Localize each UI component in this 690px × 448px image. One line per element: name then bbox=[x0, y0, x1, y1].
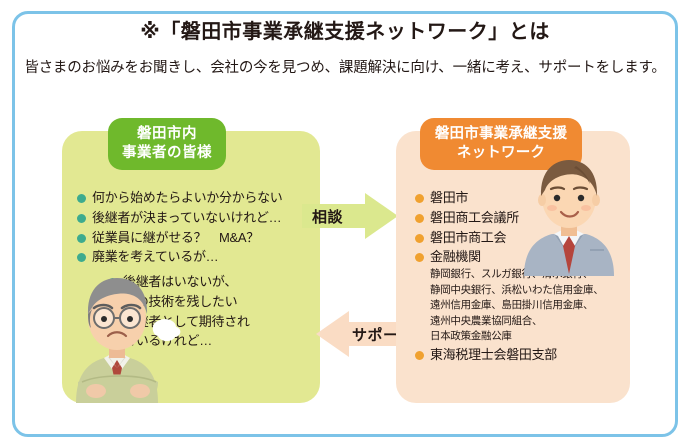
left-heading-line1: 磐田市内 bbox=[137, 125, 197, 144]
list-item: 後継者が決まっていないけれど… bbox=[77, 208, 317, 228]
list-item: 従業員に継がせる？ M&A？ bbox=[77, 228, 317, 248]
financial-institution-detail-line: 遠州中央農業協同組合、 bbox=[415, 314, 630, 330]
left-heading-line2: 事業者の皆様 bbox=[122, 144, 212, 163]
financial-institution-detail-line: 遠州信用金庫、島田掛川信用金庫、 bbox=[415, 298, 630, 314]
consult-arrow-label: 相談 bbox=[312, 206, 343, 227]
header: ※「磐田市事業承継支援ネットワーク」とは 皆さまのお悩みをお聞きし、会社の今を見… bbox=[16, 20, 674, 78]
left-panel-concern-list: 何から始めたらよいか分からない 後継者が決まっていないけれど… 従業員に継がせる… bbox=[77, 188, 317, 267]
list-item-tax-accountants: 東海税理士会磐田支部 bbox=[415, 345, 630, 365]
page-title: ※「磐田市事業承継支援ネットワーク」とは bbox=[16, 20, 674, 44]
financial-institution-detail-line: 静岡中央銀行、浜松いわた信用金庫、 bbox=[415, 283, 630, 299]
consult-arrow: 相談 bbox=[302, 193, 398, 239]
list-item: 何から始めたらよいか分からない bbox=[77, 188, 317, 208]
page-subtitle: 皆さまのお悩みをお聞きし、会社の今を見つめ、課題解決に向け、一緒に考え、サポート… bbox=[16, 59, 674, 78]
support-arrow-head-icon bbox=[316, 311, 349, 357]
left-panel-heading: 磐田市内 事業者の皆様 bbox=[108, 118, 226, 170]
smiling-advisor-man-illustration bbox=[516, 156, 622, 276]
right-heading-line1: 磐田市事業承継支援 bbox=[435, 125, 567, 144]
worried-business-man-illustration bbox=[60, 264, 184, 403]
infographic-page: ※「磐田市事業承継支援ネットワーク」とは 皆さまのお悩みをお聞きし、会社の今を見… bbox=[0, 0, 690, 448]
financial-institution-detail-line: 日本政策金融公庫 bbox=[415, 329, 630, 345]
consult-arrow-head-icon bbox=[365, 193, 398, 239]
